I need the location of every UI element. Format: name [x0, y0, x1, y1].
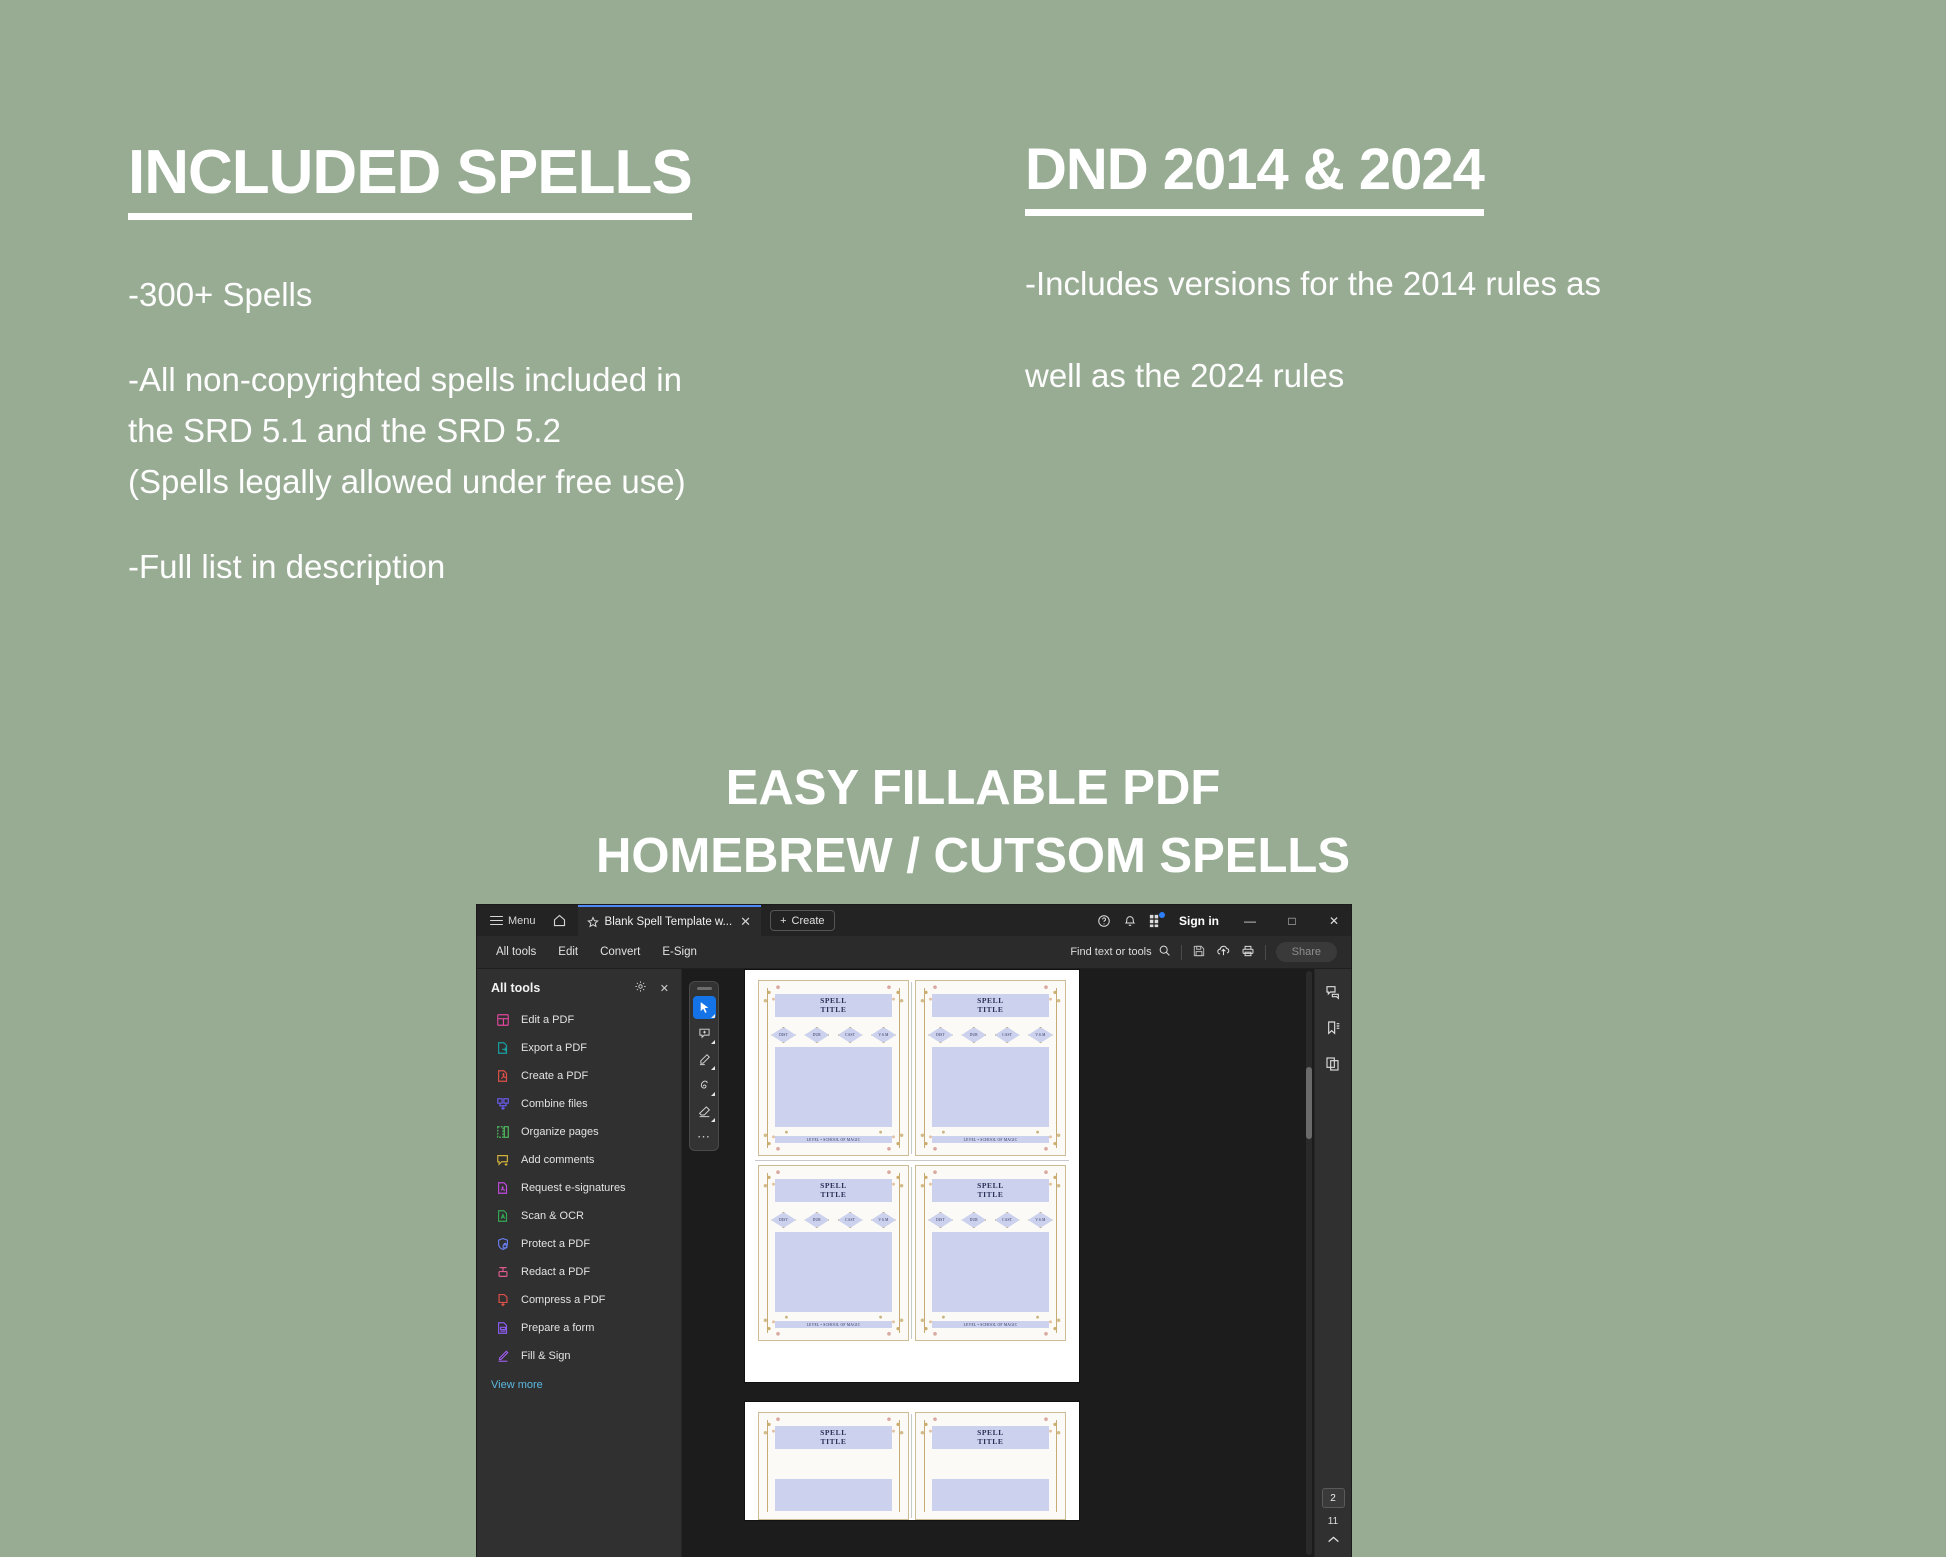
create-label: Create — [792, 915, 825, 927]
field-dist[interactable]: DIST — [771, 1027, 796, 1043]
rules-bullet-line2: well as the 2024 rules — [1025, 352, 1845, 400]
tool-label: Protect a PDF — [521, 1238, 590, 1250]
prepare-form-icon — [495, 1321, 510, 1336]
divider — [1181, 945, 1182, 960]
spell-title-field[interactable]: SPELL TITLE — [775, 1179, 892, 1202]
spell-description-field[interactable] — [775, 1232, 892, 1312]
tool-scan-and-ocr[interactable]: Scan & OCR — [477, 1202, 681, 1230]
tool-organize-pages[interactable]: Organize pages — [477, 1118, 681, 1146]
field-cast[interactable]: CAST — [838, 1027, 863, 1043]
search-icon — [1158, 944, 1171, 960]
tool-label: Export a PDF — [521, 1042, 587, 1054]
cloud-upload-icon[interactable] — [1216, 943, 1231, 961]
tool-label: Redact a PDF — [521, 1266, 590, 1278]
field-dur[interactable]: DUR — [804, 1212, 829, 1228]
total-pages-label: 11 — [1328, 1516, 1338, 1527]
page-thumbnails-icon[interactable] — [1322, 1053, 1344, 1075]
spell-description-field[interactable] — [932, 1047, 1049, 1127]
spell-card-slot[interactable]: SPELL TITLE — [912, 1408, 1069, 1524]
quick-tool-palette: ⋯ — [689, 981, 719, 1151]
tool-compress-a-pdf[interactable]: Compress a PDF — [477, 1286, 681, 1314]
dnd-versions-heading: DND 2014 & 2024 — [1025, 140, 1484, 216]
pdf-viewer[interactable]: SPELL TITLE DIST DUR CAST V.S.M LEVEL • … — [682, 969, 1314, 1557]
all-tools-title: All tools — [491, 981, 540, 995]
gear-icon[interactable] — [634, 980, 647, 996]
tool-prepare-a-form[interactable]: Prepare a form — [477, 1314, 681, 1342]
all-tools-header: All tools ✕ — [477, 978, 681, 1006]
acrobat-body: All tools ✕ Edit a — [477, 969, 1351, 1557]
find-label: Find text or tools — [1070, 946, 1151, 958]
close-window-icon[interactable]: ✕ — [1319, 905, 1349, 936]
spell-card: SPELL TITLE DIST DUR CAST V.S.M LEVEL • … — [758, 1165, 909, 1341]
save-floppy-icon[interactable] — [1192, 944, 1206, 961]
sign-in-button[interactable]: Sign in — [1175, 914, 1223, 928]
export-pdf-icon — [495, 1041, 510, 1056]
current-page-input[interactable]: 2 — [1322, 1488, 1345, 1508]
tool-add-comments[interactable]: Add comments — [477, 1146, 681, 1174]
tool-request-e-signatures[interactable]: Request e-signatures — [477, 1174, 681, 1202]
left-promo-column: INCLUDED SPELLS -300+ Spells -All non-co… — [128, 140, 968, 590]
star-icon[interactable] — [587, 916, 599, 928]
pdf-page-next: SPELL TITLE SPELL — [744, 1401, 1080, 1521]
spell-footer-field[interactable]: LEVEL • SCHOOL OF MAGIC — [775, 1136, 892, 1143]
spell-card-slot[interactable]: SPELL TITLE DIST DUR CAST V.S.M LEVEL • … — [755, 1160, 912, 1345]
bookmarks-panel-icon[interactable] — [1322, 1017, 1344, 1039]
field-vsm[interactable]: V.S.M — [871, 1212, 896, 1228]
viewer-scrollbar[interactable] — [1306, 971, 1312, 1555]
find-text-or-tools[interactable]: Find text or tools — [1070, 944, 1170, 960]
spell-title-field[interactable]: SPELL TITLE — [932, 994, 1049, 1017]
page-navigation: 2 11 — [1315, 1488, 1351, 1547]
spell-card-slot[interactable]: SPELL TITLE — [755, 1408, 912, 1524]
tool-create-a-pdf[interactable]: Create a PDF — [477, 1062, 681, 1090]
spell-count-bullet: -300+ Spells — [128, 272, 968, 319]
spell-card: SPELL TITLE DIST DUR CAST V.S.M LEVEL • … — [915, 1165, 1066, 1341]
tool-redact-a-pdf[interactable]: Redact a PDF — [477, 1258, 681, 1286]
minimize-icon[interactable]: — — [1235, 905, 1265, 936]
tool-label: Create a PDF — [521, 1070, 588, 1082]
document-tab-title: Blank Spell Template w... — [605, 916, 733, 928]
spell-description-field[interactable] — [932, 1232, 1049, 1312]
chevron-up-icon[interactable] — [1327, 1535, 1340, 1547]
field-dur[interactable]: DUR — [804, 1027, 829, 1043]
scrollbar-thumb[interactable] — [1306, 1067, 1312, 1139]
organize-pages-icon — [495, 1125, 510, 1140]
tool-label: Prepare a form — [521, 1322, 594, 1334]
comments-panel-icon[interactable] — [1322, 981, 1344, 1003]
spell-card-slot[interactable]: SPELL TITLE DIST DUR CAST V.S.M LEVEL • … — [912, 976, 1069, 1160]
tool-combine-files[interactable]: Combine files — [477, 1090, 681, 1118]
help-circle-icon[interactable] — [1097, 914, 1111, 928]
field-cast[interactable]: CAST — [995, 1212, 1020, 1228]
spell-card-slot[interactable]: SPELL TITLE DIST DUR CAST V.S.M LEVEL • … — [912, 1160, 1069, 1345]
tool-label: Edit a PDF — [521, 1014, 574, 1026]
field-cast[interactable]: CAST — [838, 1212, 863, 1228]
spell-description-field[interactable] — [932, 1479, 1049, 1511]
full-list-bullet: -Full list in description — [128, 544, 968, 591]
spell-attribute-fields: DIST DUR CAST V.S.M — [928, 1212, 1053, 1228]
rules-bullet-line1: -Includes versions for the 2014 rules as — [1025, 260, 1845, 308]
create-button[interactable]: + Create — [770, 910, 834, 931]
field-dur[interactable]: DUR — [961, 1027, 986, 1043]
tool-label: Compress a PDF — [521, 1294, 605, 1306]
tool-label: Add comments — [521, 1154, 594, 1166]
share-button[interactable]: Share — [1276, 942, 1337, 962]
field-dist[interactable]: DIST — [928, 1027, 953, 1043]
draw-freehand-icon[interactable] — [693, 1074, 716, 1097]
edit-pdf-icon — [495, 1013, 510, 1028]
tab-close-icon[interactable]: ✕ — [738, 915, 753, 928]
right-promo-column: DND 2014 & 2024 -Includes versions for t… — [1025, 140, 1845, 400]
spell-title-field[interactable]: SPELL TITLE — [932, 1426, 1049, 1449]
tool-label: Organize pages — [521, 1126, 599, 1138]
spell-card: SPELL TITLE DIST DUR CAST V.S.M LEVEL • … — [758, 980, 909, 1156]
all-tools-panel: All tools ✕ Edit a — [477, 969, 682, 1557]
bell-icon[interactable] — [1123, 914, 1137, 928]
menu-button[interactable]: Menu — [483, 909, 543, 932]
shield-lock-icon — [495, 1237, 510, 1252]
hamburger-icon — [490, 913, 503, 928]
menu-label: Menu — [508, 915, 536, 927]
spell-title-field[interactable]: SPELL TITLE — [775, 994, 892, 1017]
free-use-note: (Spells legally allowed under free use) — [128, 459, 968, 506]
homebrew-custom-spells-heading: HOMEBREW / CUTSOM SPELLS — [0, 823, 1946, 891]
acrobat-title-bar: Menu Blank Spell Template w... ✕ + Creat… — [477, 905, 1351, 936]
field-dur[interactable]: DUR — [961, 1212, 986, 1228]
field-dist[interactable]: DIST — [771, 1212, 796, 1228]
tab-edit[interactable]: Edit — [547, 939, 589, 965]
combine-files-icon — [495, 1097, 510, 1112]
field-dist[interactable]: DIST — [928, 1212, 953, 1228]
spell-card: SPELL TITLE DIST DUR CAST V.S.M LEVEL • … — [915, 980, 1066, 1156]
tab-all-tools[interactable]: All tools — [485, 939, 547, 965]
all-tools-close-icon[interactable]: ✕ — [660, 982, 669, 995]
tool-edit-a-pdf[interactable]: Edit a PDF — [477, 1006, 681, 1034]
srd-bullet-line1: -All non-copyrighted spells included in — [128, 357, 968, 404]
highlighter-icon[interactable] — [693, 1048, 716, 1071]
right-rail: 2 11 — [1314, 969, 1351, 1557]
home-icon[interactable] — [545, 909, 574, 932]
srd-bullet-line2: the SRD 5.1 and the SRD 5.2 — [128, 408, 968, 455]
field-vsm[interactable]: V.S.M — [871, 1027, 896, 1043]
acrobat-menu-bar: All tools Edit Convert E-Sign Find text … — [477, 936, 1351, 969]
palette-drag-handle[interactable] — [697, 987, 712, 990]
cursor-select-icon[interactable] — [693, 996, 716, 1019]
tool-fill-and-sign[interactable]: Fill & Sign — [477, 1342, 681, 1370]
field-vsm[interactable]: V.S.M — [1028, 1027, 1053, 1043]
spell-attribute-fields: DIST DUR CAST V.S.M — [771, 1027, 896, 1043]
maximize-icon[interactable]: □ — [1277, 905, 1307, 936]
field-vsm[interactable]: V.S.M — [1028, 1212, 1053, 1228]
plus-icon: + — [780, 915, 786, 927]
add-comment-icon[interactable] — [693, 1022, 716, 1045]
spell-card-slot[interactable]: SPELL TITLE DIST DUR CAST V.S.M LEVEL • … — [755, 976, 912, 1160]
app-grid-icon[interactable] — [1149, 914, 1163, 928]
notification-badge — [1159, 912, 1165, 918]
tab-e-sign[interactable]: E-Sign — [651, 939, 708, 965]
e-signature-icon — [495, 1181, 510, 1196]
spell-description-field[interactable] — [775, 1479, 892, 1511]
scan-ocr-icon — [495, 1209, 510, 1224]
included-spells-heading: INCLUDED SPELLS — [128, 140, 692, 220]
tab-convert[interactable]: Convert — [589, 939, 651, 965]
compress-icon — [495, 1293, 510, 1308]
acrobat-window: Menu Blank Spell Template w... ✕ + Creat… — [477, 905, 1351, 1557]
spell-attribute-fields: DIST DUR CAST V.S.M — [928, 1027, 1053, 1043]
tool-protect-a-pdf[interactable]: Protect a PDF — [477, 1230, 681, 1258]
eraser-icon[interactable] — [693, 1100, 716, 1123]
tool-label: Scan & OCR — [521, 1210, 584, 1222]
printer-icon[interactable] — [1241, 944, 1255, 961]
spell-title-field[interactable]: SPELL TITLE — [775, 1426, 892, 1449]
spell-title-field[interactable]: SPELL TITLE — [932, 1179, 1049, 1202]
more-dots-icon[interactable]: ⋯ — [697, 1126, 711, 1146]
spell-description-field[interactable] — [775, 1047, 892, 1127]
tool-label: Fill & Sign — [521, 1350, 571, 1362]
tool-label: Request e-signatures — [521, 1182, 626, 1194]
add-comments-icon — [495, 1153, 510, 1168]
fill-sign-icon — [495, 1349, 510, 1364]
spell-footer-field[interactable]: LEVEL • SCHOOL OF MAGIC — [932, 1321, 1049, 1328]
create-pdf-icon — [495, 1069, 510, 1084]
spell-card: SPELL TITLE — [915, 1412, 1066, 1520]
field-cast[interactable]: CAST — [995, 1027, 1020, 1043]
center-headings: EASY FILLABLE PDF HOMEBREW / CUTSOM SPEL… — [0, 755, 1946, 890]
tool-label: Combine files — [521, 1098, 588, 1110]
divider — [1265, 945, 1266, 960]
tool-export-a-pdf[interactable]: Export a PDF — [477, 1034, 681, 1062]
document-tab[interactable]: Blank Spell Template w... ✕ — [578, 905, 762, 936]
spell-footer-field[interactable]: LEVEL • SCHOOL OF MAGIC — [932, 1136, 1049, 1143]
spell-attribute-fields: DIST DUR CAST V.S.M — [771, 1212, 896, 1228]
spell-footer-field[interactable]: LEVEL • SCHOOL OF MAGIC — [775, 1321, 892, 1328]
view-more-link[interactable]: View more — [477, 1370, 681, 1391]
easy-fillable-pdf-heading: EASY FILLABLE PDF — [0, 755, 1946, 823]
spell-card: SPELL TITLE — [758, 1412, 909, 1520]
redact-icon — [495, 1265, 510, 1280]
pdf-page: SPELL TITLE DIST DUR CAST V.S.M LEVEL • … — [744, 969, 1080, 1383]
